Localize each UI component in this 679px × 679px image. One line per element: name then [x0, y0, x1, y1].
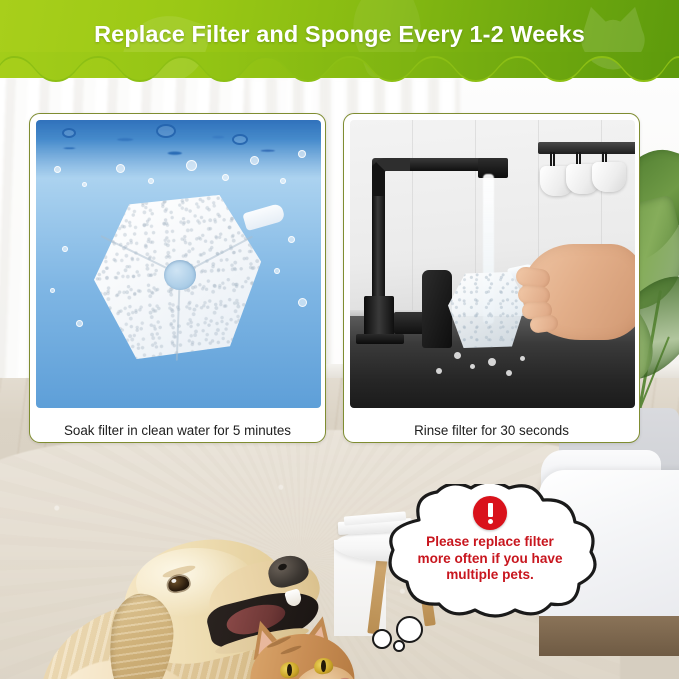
thought-bubble-content: Please replace filter more often if you … [375, 484, 605, 618]
caption-rinse: Rinse filter for 30 seconds [344, 423, 639, 438]
bubble [288, 236, 295, 243]
bubble [76, 320, 83, 327]
soak-photo [36, 120, 321, 408]
bubble [186, 160, 197, 171]
exclamation-glyph [488, 503, 493, 524]
notice-line-3: multiple pets. [395, 567, 585, 584]
notice-line-2: more often if you have [395, 551, 585, 568]
water-droplet [488, 358, 496, 366]
water-surface [36, 120, 321, 178]
step-card-rinse: Rinse filter for 30 seconds [343, 113, 640, 443]
bubble [280, 178, 286, 184]
sofa-base [539, 616, 679, 656]
exclamation-dot [488, 519, 493, 524]
thought-trail-circle-large [396, 616, 423, 643]
cat-pupil [287, 664, 292, 676]
bubble [116, 164, 125, 173]
water-droplet [454, 352, 461, 359]
water-droplet [470, 364, 475, 369]
cat-pupil [321, 660, 326, 672]
notice-text: Please replace filter more often if you … [395, 534, 585, 584]
pull-down-sprayer [422, 270, 452, 348]
hanging-mug [592, 162, 626, 192]
caption-soak: Soak filter in clean water for 5 minutes [30, 423, 325, 438]
faucet-bend [372, 158, 410, 196]
exclamation-warning-icon [473, 496, 507, 530]
notice-line-1: Please replace filter [395, 534, 585, 551]
bubble [298, 298, 307, 307]
water-splash [156, 124, 176, 138]
bubble [54, 166, 61, 173]
water-droplet [436, 368, 442, 374]
bubble [50, 288, 55, 293]
faucet-base [364, 296, 394, 338]
bubble [298, 150, 306, 158]
rinse-photo [350, 120, 635, 408]
page-title: Replace Filter and Sponge Every 1-2 Week… [0, 21, 679, 48]
faucet-mount-plate [356, 334, 404, 344]
bubble [82, 182, 87, 187]
exclamation-bar [488, 503, 493, 517]
filter-center-hole [164, 260, 196, 290]
water-droplet [520, 356, 525, 361]
bubble [222, 174, 229, 181]
thought-trail-circle-medium [372, 629, 392, 649]
infographic-stage: Replace Filter and Sponge Every 1-2 Week… [0, 0, 679, 679]
water-splash [232, 134, 248, 145]
bubble [62, 246, 68, 252]
header-wave-divider [0, 52, 679, 84]
step-card-soak: Soak filter in clean water for 5 minutes [29, 113, 326, 443]
bubble [274, 268, 280, 274]
water-splash [62, 128, 76, 138]
bubble [148, 178, 154, 184]
bubble [250, 156, 259, 165]
thought-bubble: Please replace filter more often if you … [375, 484, 605, 618]
water-droplet [506, 370, 512, 376]
